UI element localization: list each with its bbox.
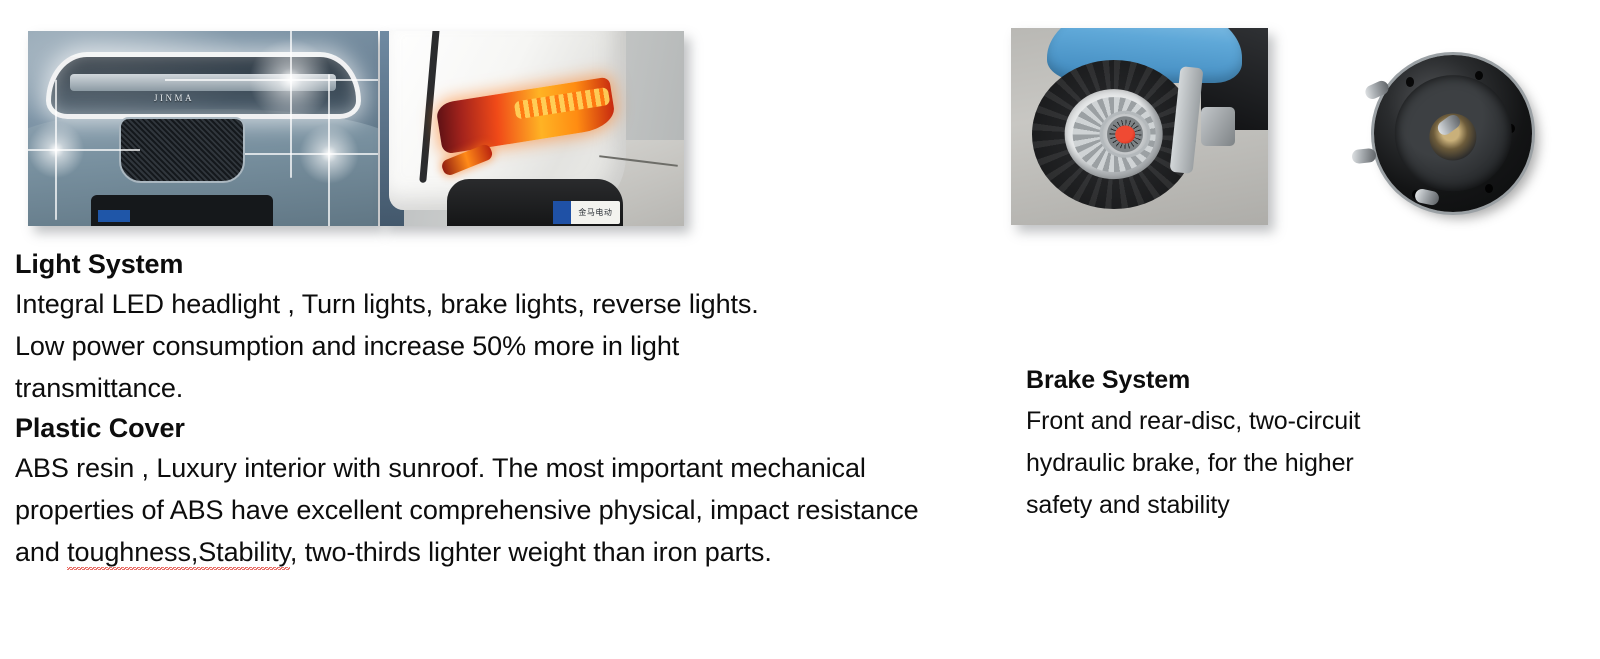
front-plate: [98, 210, 130, 222]
led-headlight-photo[interactable]: JINMA: [28, 31, 378, 226]
chrome-trim: [70, 74, 336, 92]
brake-backing-plate: [1374, 55, 1532, 211]
license-plate-text: 金马电动: [571, 207, 621, 218]
light-system-heading: Light System: [15, 245, 925, 283]
brake-hub-drum-photo[interactable]: [1330, 52, 1532, 215]
misspelled-word[interactable]: toughness,Stability: [67, 537, 290, 570]
brake-system-line-3: safety and stability: [1026, 484, 1496, 526]
light-system-paragraph: Integral LED headlight , Turn lights, br…: [15, 283, 925, 409]
light-system-line-3: transmittance.: [15, 367, 925, 409]
led-headlight-photo-inner: JINMA: [28, 31, 378, 226]
front-wheel-photo-inner: [1011, 28, 1268, 225]
brake-disc-rotor: [1100, 111, 1151, 157]
plate-bolt-hole: [1475, 71, 1483, 80]
plate-bolt-hole: [1406, 77, 1414, 86]
left-text-block: Light System Integral LED headlight , Tu…: [15, 245, 925, 573]
brake-system-paragraph: Front and rear-disc, two-circuit hydraul…: [1026, 400, 1496, 526]
wheel-stud: [1352, 148, 1377, 164]
plastic-cover-text-after: , two-thirds lighter weight than iron pa…: [290, 537, 772, 567]
light-system-line-2: Low power consumption and increase 50% m…: [15, 325, 925, 367]
license-plate-badge: [553, 201, 570, 224]
plate-bolt-hole: [1485, 184, 1493, 193]
brand-badge: JINMA: [154, 93, 194, 103]
tail-light-led-strip: [513, 87, 610, 120]
right-text-block: Brake System Front and rear-disc, two-ci…: [1026, 360, 1496, 526]
brake-caliper: [1201, 107, 1234, 146]
red-wheel-hub: [1115, 125, 1136, 144]
front-wheel-disc-brake-photo[interactable]: [1011, 28, 1268, 225]
rear-taillight-photo-inner: 金马电动: [380, 31, 684, 226]
brake-system-line-1: Front and rear-disc, two-circuit: [1026, 400, 1496, 442]
plastic-cover-paragraph: ABS resin , Luxury interior with sunroof…: [15, 447, 925, 573]
light-system-line-1: Integral LED headlight , Turn lights, br…: [15, 283, 925, 325]
plastic-cover-heading: Plastic Cover: [15, 409, 925, 447]
wheel-stud: [1414, 188, 1440, 207]
license-plate: 金马电动: [553, 201, 620, 224]
slide-canvas: JINMA 金马电动: [0, 0, 1600, 659]
tire: [1032, 60, 1196, 210]
wheel-stud: [1363, 79, 1390, 101]
brake-system-heading: Brake System: [1026, 360, 1496, 400]
brake-system-line-2: hydraulic brake, for the higher: [1026, 442, 1496, 484]
rear-taillight-photo[interactable]: 金马电动: [380, 31, 684, 226]
front-grille: [119, 117, 245, 183]
